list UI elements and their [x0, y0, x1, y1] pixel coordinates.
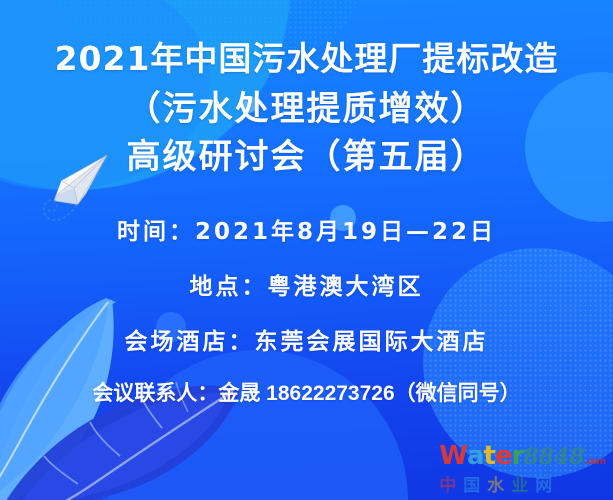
watermark-tld: .com: [585, 449, 605, 475]
title-line-1: 2021年中国污水处理厂提标改造: [0, 38, 613, 80]
detail-time: 时间：2021年8月19日—22日: [0, 212, 613, 246]
detail-hotel: 会场酒店：东莞会展国际大酒店: [0, 322, 613, 356]
watermark-letter-a: a: [467, 443, 484, 469]
watermark-numbers: 8848: [523, 444, 584, 470]
poster-content: 2021年中国污水处理厂提标改造 （污水处理提质增效） 高级研讨会（第五届） 时…: [0, 0, 613, 500]
watermark-letter-t: t: [484, 443, 495, 469]
title-line-2: （污水处理提质增效）: [0, 88, 613, 130]
watermark-cn-2: 国: [463, 476, 487, 496]
watermark-brand: Water8848.com: [439, 443, 605, 475]
watermark-cn-3: 水: [487, 476, 511, 496]
watermark-chinese: 中国水业网: [439, 476, 605, 496]
watermark-cn-1: 中: [439, 476, 463, 496]
watermark-cn-5: 网: [535, 476, 559, 496]
watermark-letter-r: r: [512, 443, 524, 469]
watermark-letter-e: e: [495, 443, 512, 469]
watermark-cn-4: 业: [511, 476, 535, 496]
title-line-3: 高级研讨会（第五届）: [0, 136, 613, 178]
conference-poster: 2021年中国污水处理厂提标改造 （污水处理提质增效） 高级研讨会（第五届） 时…: [0, 0, 613, 500]
watermark-logo: Water8848.com 中国水业网: [439, 443, 605, 496]
detail-contact: 会议联系人：金晟 18622273726（微信同号）: [0, 377, 613, 407]
watermark-letter-w: W: [439, 443, 467, 469]
detail-place: 地点：粤港澳大湾区: [0, 267, 613, 301]
